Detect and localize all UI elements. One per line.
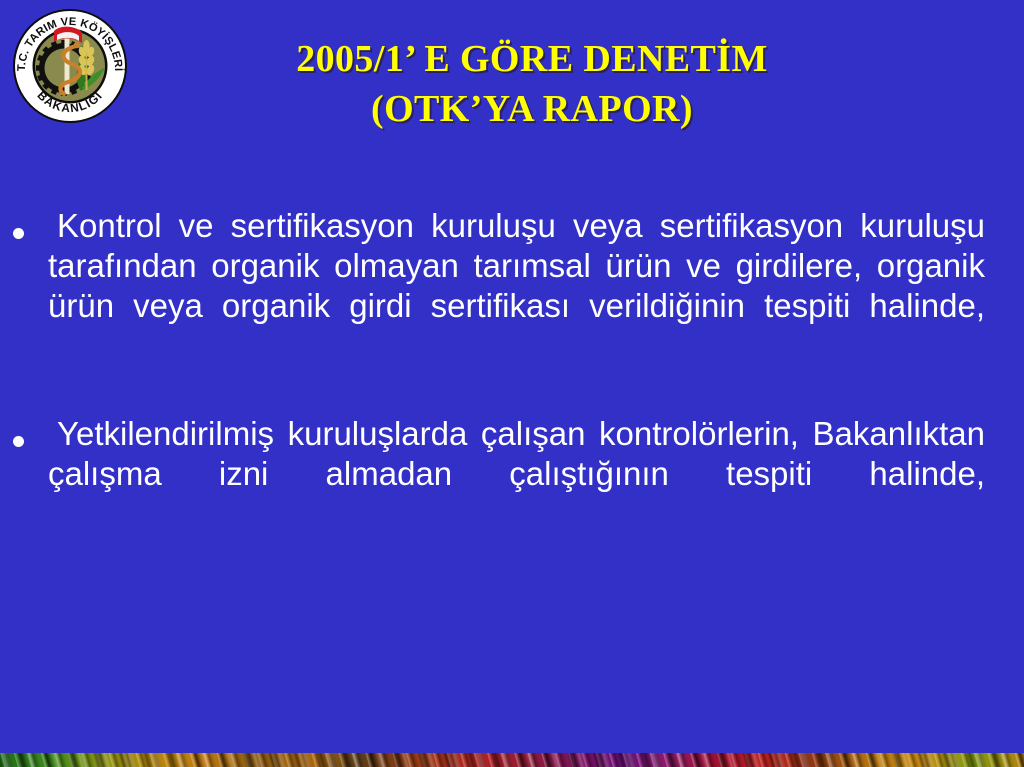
bullet-item: Kontrol ve sertifikasyon kuruluşu veya s… (0, 206, 1024, 366)
bullet-item: Yetkilendirilmiş kuruluşlarda çalışan ko… (0, 414, 1024, 534)
ministry-logo-graphic: T.C. TARIM VE KÖYİŞLERİ BAKANLIĞI (8, 4, 132, 128)
ministry-logo: T.C. TARIM VE KÖYİŞLERİ BAKANLIĞI (8, 4, 132, 128)
slide-title: 2005/1’ E GÖRE DENETİM (OTK’YA RAPOR) (132, 34, 932, 134)
footer-stripe-diagonal-shadows (0, 753, 1024, 767)
bullet-marker-icon (13, 436, 24, 447)
slide-body: Kontrol ve sertifikasyon kuruluşu veya s… (0, 206, 1024, 582)
snake-head-icon (74, 42, 80, 48)
decorative-footer-stripe (0, 753, 1024, 767)
presentation-slide: T.C. TARIM VE KÖYİŞLERİ BAKANLIĞI 2005/1… (0, 0, 1024, 767)
bullet-text: Kontrol ve sertifikasyon kuruluşu veya s… (48, 206, 985, 366)
bullet-text: Yetkilendirilmiş kuruluşlarda çalışan ko… (48, 414, 985, 534)
bullet-marker-icon (13, 228, 24, 239)
